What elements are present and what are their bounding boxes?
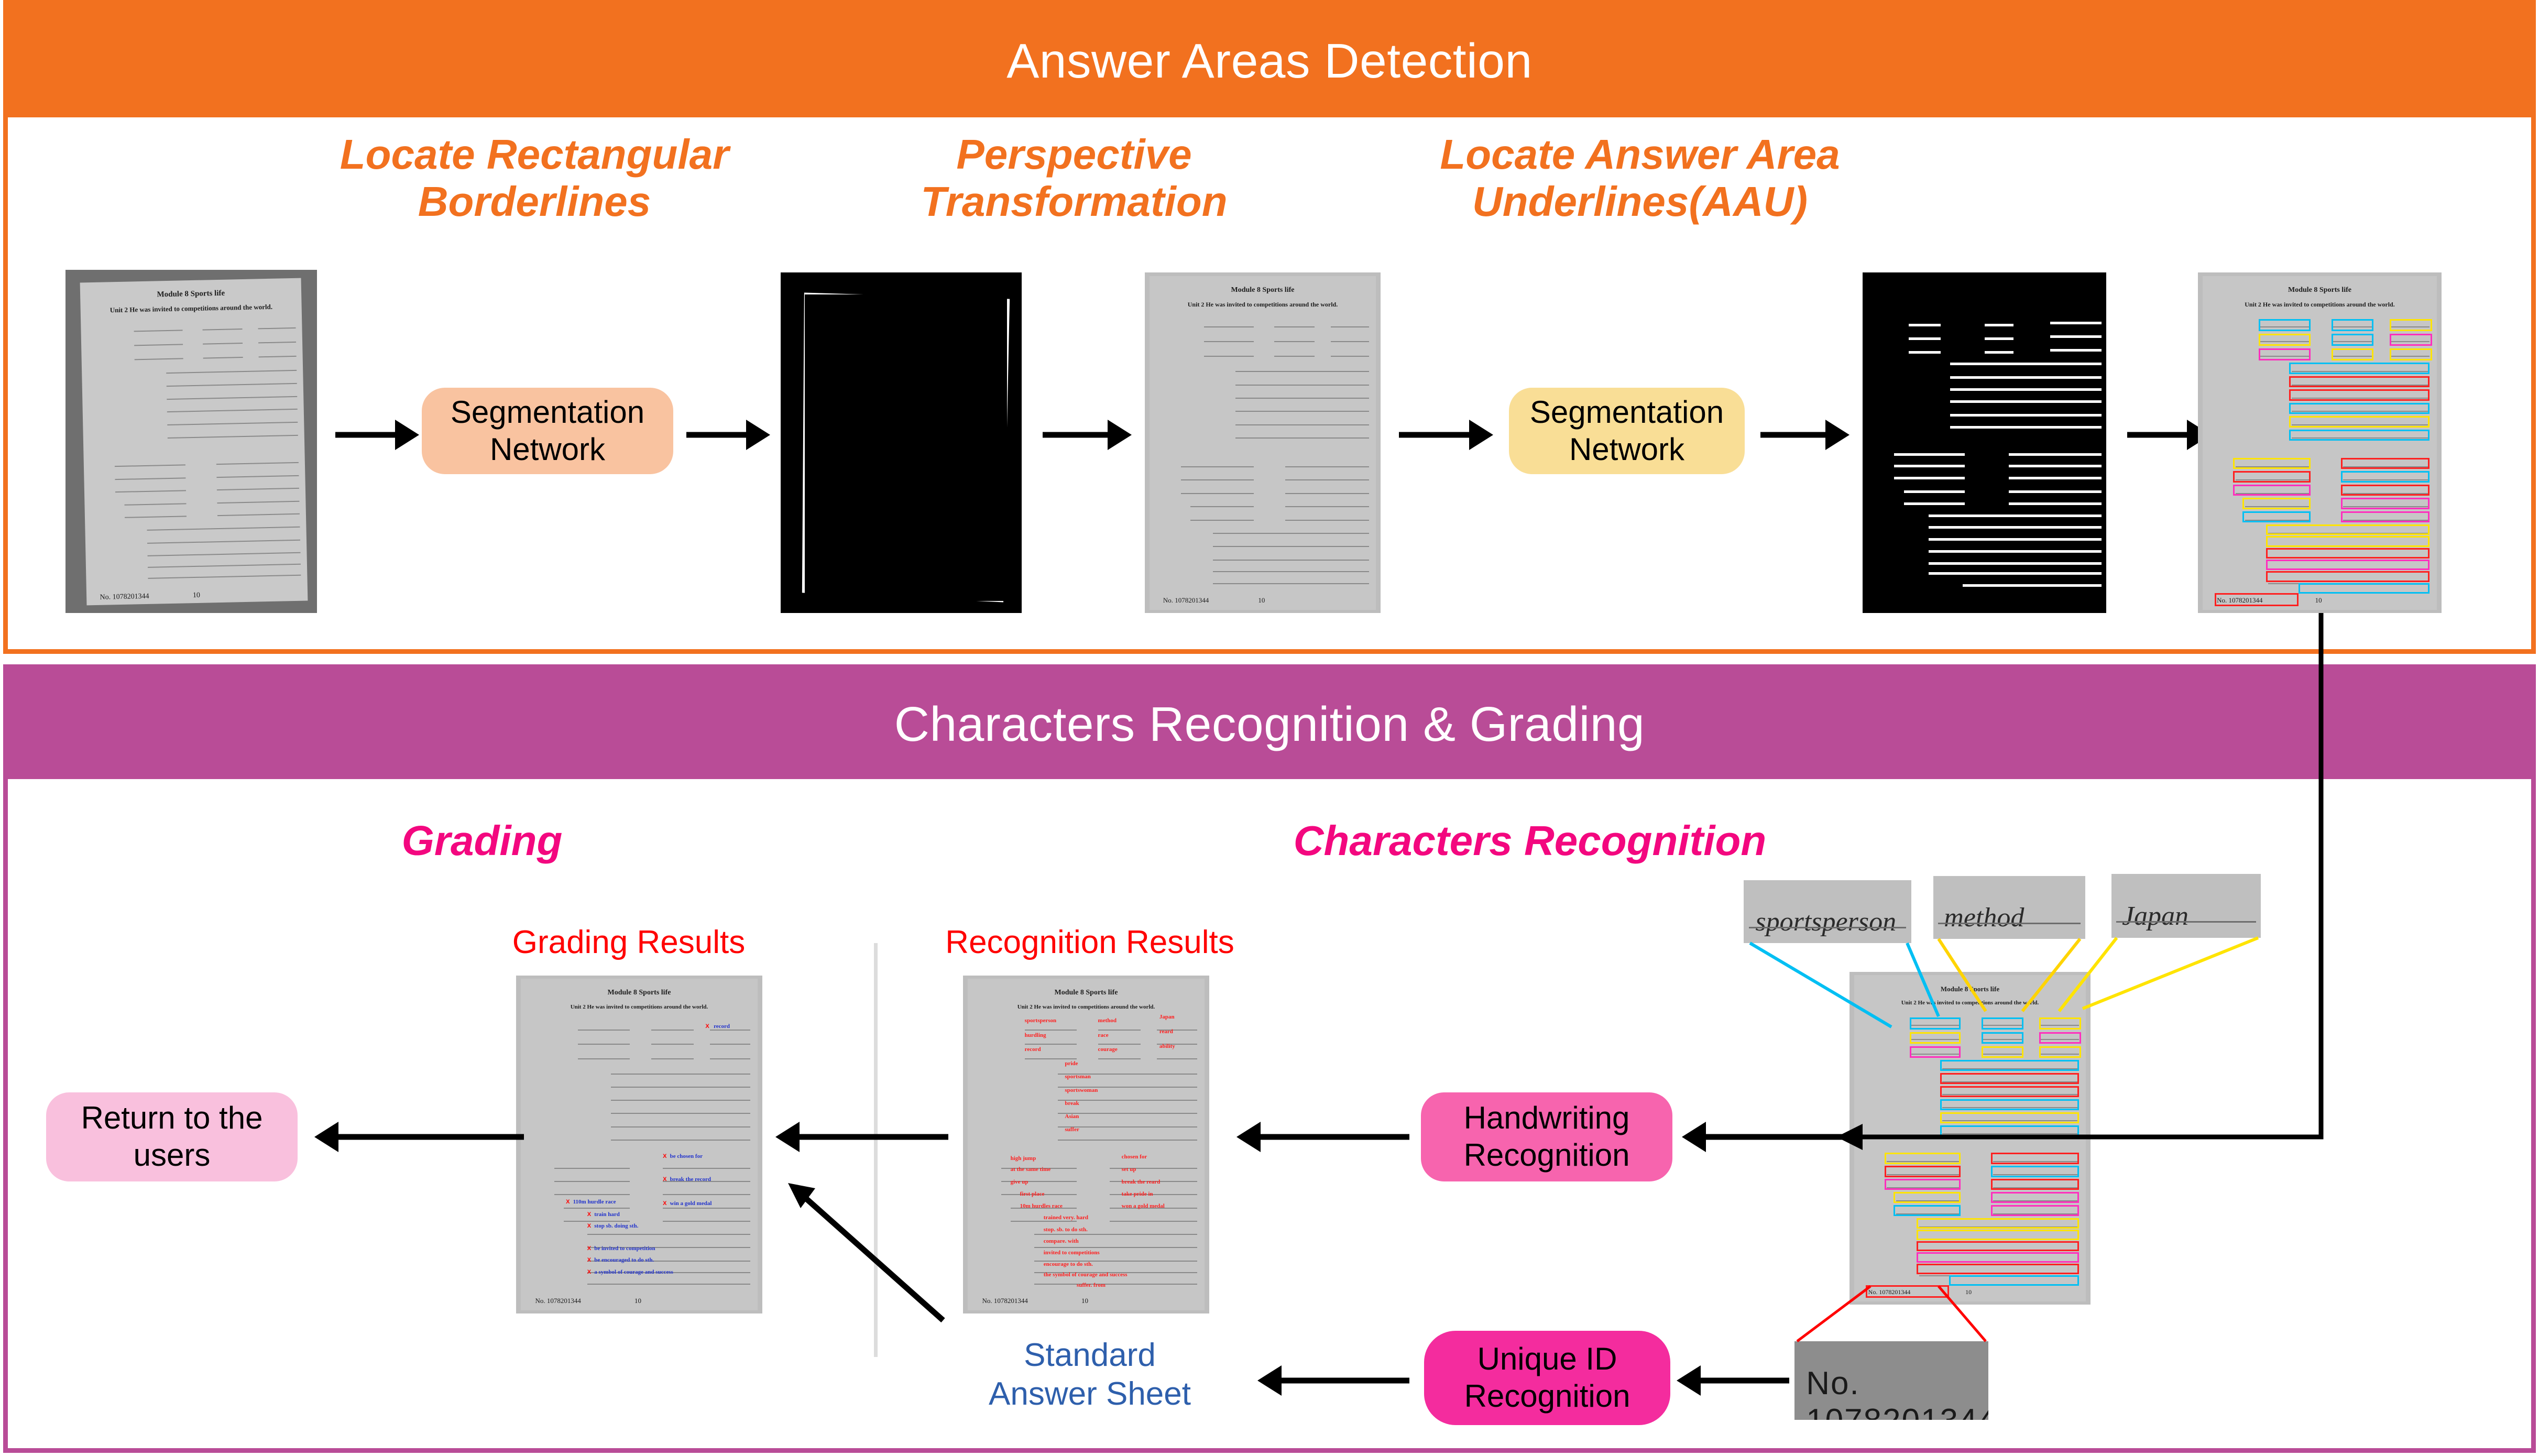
sheet-page-number: 10	[1081, 1297, 1088, 1305]
sheet-footer-id: No. 1078201344	[1868, 1288, 1911, 1296]
sheet-page-number: 10	[634, 1297, 641, 1305]
crop-japan: Japan	[2111, 874, 2261, 938]
aau-box	[2390, 348, 2432, 360]
return-to-users-line2: users	[81, 1137, 263, 1174]
characters-recognition-grading-title: Characters Recognition & Grading	[894, 700, 1645, 749]
pipeline-diagram: Answer Areas Detection Locate Rectangula…	[0, 0, 2539, 1456]
aau-box	[1991, 1205, 2079, 1216]
grading-x: X	[566, 1199, 570, 1205]
standard-answer-sheet-label: Standard Answer Sheet	[943, 1336, 1236, 1414]
recognized-text: hurdling	[1025, 1032, 1046, 1038]
aau-box	[2233, 471, 2310, 483]
step-locate-answer-area-underlines: Locate Answer Area Underlines(AAU)	[1378, 131, 1902, 225]
recognized-text: suffer	[1065, 1126, 1079, 1133]
grading-x: X	[587, 1211, 591, 1218]
aau-box	[1991, 1166, 2079, 1177]
aau-box	[1940, 1112, 2079, 1123]
sheet-title-1: Module 8 Sports life	[2203, 286, 2436, 294]
aau-box	[2266, 548, 2429, 559]
recognized-text: Asian	[1065, 1113, 1079, 1120]
sheet-page-number: 10	[1258, 596, 1265, 605]
recognized-text: ability	[1159, 1043, 1175, 1049]
characters-recognition-grading-band: Characters Recognition & Grading	[8, 669, 2531, 779]
sheet-title-2: Unit 2 He was invited to competitions ar…	[2203, 301, 2436, 309]
aau-box	[2341, 458, 2430, 469]
aau-segmentation-mask	[1863, 272, 2106, 613]
step1-line1: Locate Rectangular	[272, 131, 796, 178]
aau-box	[2332, 334, 2373, 346]
recognized-text: at the same time	[1011, 1166, 1051, 1173]
standard-answer-sheet-line2: Answer Sheet	[943, 1375, 1236, 1414]
recognized-text: sportswoman	[1065, 1087, 1098, 1093]
detected-quadrilateral	[800, 290, 1012, 606]
aau-box	[2332, 319, 2373, 331]
aau-box	[1940, 1073, 2079, 1084]
aau-box	[2266, 524, 2429, 535]
sheet-footer-id: No. 1078201344	[100, 592, 149, 601]
crop-word: Japan	[2122, 901, 2188, 932]
aau-box	[2259, 319, 2310, 331]
recognized-text: trained very. hard	[1044, 1214, 1088, 1221]
aau-box	[1885, 1166, 1961, 1177]
grading-correction: be encouraged to do sth.	[594, 1257, 654, 1263]
sheet-title-1: Module 8 Sports life	[1854, 985, 2086, 993]
aau-box	[2289, 389, 2429, 401]
sheet-title-1: Module 8 Sports life	[80, 288, 302, 301]
aau-box	[2266, 560, 2429, 570]
segnet1-line2: Network	[451, 431, 644, 468]
sheet-page: Module 8 Sports life Unit 2 He was invit…	[80, 278, 308, 605]
aau-box	[1940, 1086, 2079, 1097]
sheet-title-1: Module 8 Sports life	[1150, 286, 1376, 294]
aau-box	[2039, 1046, 2081, 1058]
aau-box	[1910, 1032, 1961, 1044]
recognized-text: sportsman	[1065, 1074, 1091, 1080]
aau-box	[1917, 1241, 2078, 1252]
aau-box	[1885, 1153, 1961, 1164]
sheet-title-1: Module 8 Sports life	[968, 989, 1204, 997]
step1-line2: Borderlines	[272, 178, 796, 225]
sheet-footer-id: No. 1078201344	[982, 1297, 1027, 1305]
aau-box	[1991, 1179, 2079, 1190]
aau-box	[2233, 458, 2310, 469]
annotated-answer-areas-sheet: Module 8 Sports life Unit 2 He was invit…	[2198, 272, 2442, 613]
answer-areas-detection-band: Answer Areas Detection	[8, 5, 2531, 117]
segmentation-network-aau[interactable]: Segmentation Network	[1509, 388, 1745, 474]
recognized-text: give up	[1011, 1179, 1028, 1185]
standard-answer-sheet-line1: Standard	[943, 1336, 1236, 1375]
aau-box	[1910, 1046, 1961, 1058]
unique-id-recognition-node[interactable]: Unique ID Recognition	[1424, 1331, 1670, 1425]
recognized-text: method	[1098, 1017, 1117, 1024]
aau-box	[2289, 403, 2429, 414]
perspective-corrected-sheet: Module 8 Sports life Unit 2 He was invit…	[1145, 272, 1381, 613]
grading-results-sheet: Module 8 Sports life Unit 2 He was invit…	[516, 976, 762, 1313]
step3-line2: Underlines(AAU)	[1378, 178, 1902, 225]
aau-box	[2259, 348, 2310, 360]
aau-box	[2289, 430, 2429, 441]
return-to-users-line1: Return to the	[81, 1100, 263, 1137]
sheet-title-2: Unit 2 He was invited to competitions ar…	[80, 302, 302, 315]
recognized-text: encourage to do sth.	[1044, 1261, 1093, 1267]
characters-recognition-heading: Characters Recognition	[1216, 817, 1844, 864]
handwriting-recognition-line1: Handwriting	[1464, 1100, 1630, 1137]
characters-recognition-grading-panel: Characters Recognition & Grading	[3, 664, 2536, 1453]
aau-box	[2341, 485, 2430, 496]
crop-sportsperson: sportsperson	[1744, 880, 1911, 943]
grading-heading: Grading	[325, 817, 639, 864]
aau-box	[1991, 1192, 2079, 1203]
aau-box	[2266, 536, 2429, 546]
step-perspective-transformation: Perspective Transformation	[859, 131, 1289, 225]
recognized-text: set up	[1122, 1166, 1136, 1173]
aau-box	[2233, 485, 2310, 496]
grading-correction: win a gold medal	[670, 1200, 712, 1207]
sheet-footer-id: No. 1078201344	[535, 1297, 581, 1305]
recognized-text: first place	[1020, 1191, 1045, 1197]
recognized-text: suffer. from	[1077, 1282, 1106, 1288]
recognized-text: pride	[1065, 1060, 1078, 1067]
recognized-text: invited to competitions	[1044, 1250, 1100, 1256]
sheet-page-number: 10	[192, 591, 200, 599]
aau-box	[1982, 1017, 2023, 1029]
aau-box	[1991, 1153, 2079, 1164]
grading-correction: break the record	[670, 1176, 711, 1183]
recognized-text: stop. sb. to do sth.	[1044, 1227, 1088, 1233]
recognized-text: compare. with	[1044, 1238, 1079, 1244]
sheet-title-2: Unit 2 He was invited to competitions ar…	[968, 1004, 1204, 1010]
answer-areas-detection-title: Answer Areas Detection	[1006, 37, 1532, 85]
aau-box	[1917, 1218, 2078, 1229]
recognized-text: 10m hurdles race	[1020, 1203, 1063, 1209]
grading-correction: record	[714, 1023, 730, 1030]
sheet-footer-id: No. 1078201344	[1163, 596, 1209, 605]
sheet-footer-id: No. 1078201344	[2217, 596, 2262, 605]
grading-x: X	[587, 1257, 591, 1263]
aau-box	[2289, 363, 2429, 374]
recognized-text: take pride in	[1122, 1191, 1153, 1197]
step-locate-rectangular-borderlines: Locate Rectangular Borderlines	[272, 131, 796, 225]
recognized-text: race	[1098, 1032, 1109, 1038]
segnet2-line2: Network	[1530, 431, 1724, 468]
recognized-text: Japan	[1159, 1014, 1175, 1020]
unique-id-recognition-line1: Unique ID	[1464, 1341, 1630, 1378]
grading-x: X	[587, 1269, 591, 1275]
aau-box	[2332, 348, 2373, 360]
aau-box	[2289, 416, 2429, 428]
aau-box	[2039, 1017, 2081, 1029]
step3-line1: Locate Answer Area	[1378, 131, 1902, 178]
aau-box	[2242, 511, 2310, 523]
aau-box	[1894, 1205, 1961, 1216]
segnet2-line1: Segmentation	[1530, 394, 1724, 431]
sheet-title-2: Unit 2 He was invited to competitions ar…	[1854, 1000, 2086, 1006]
section-divider	[874, 943, 878, 1357]
recognized-text: break	[1065, 1100, 1079, 1107]
grading-x: X	[663, 1176, 666, 1183]
aau-box	[2390, 334, 2432, 346]
aau-box	[2341, 498, 2430, 509]
aau-box	[1982, 1046, 2023, 1058]
grading-correction: be invited to competition	[594, 1245, 655, 1252]
aau-box	[1982, 1032, 2023, 1044]
aau-box	[1910, 1017, 1961, 1029]
grading-correction: train hard	[594, 1211, 620, 1218]
recognized-text: reard	[1159, 1028, 1173, 1035]
aau-box	[2259, 334, 2310, 346]
aau-box	[2341, 471, 2430, 483]
recognized-text: courage	[1098, 1046, 1118, 1053]
grading-x: X	[587, 1245, 591, 1252]
aau-box	[1940, 1125, 2079, 1136]
aau-box	[1917, 1264, 2078, 1274]
sheet-title-2: Unit 2 He was invited to competitions ar…	[1150, 301, 1376, 309]
unique-id-recognition-line2: Recognition	[1464, 1378, 1630, 1415]
recognized-text: the symbol of courage and success	[1044, 1272, 1128, 1278]
aau-box	[2289, 376, 2429, 388]
recognized-text: chosen for	[1122, 1154, 1147, 1160]
step2-line2: Transformation	[859, 178, 1289, 225]
grading-correction: be chosen for	[670, 1153, 703, 1159]
borderline-segmentation-mask	[781, 272, 1022, 613]
aau-box	[1885, 1179, 1961, 1190]
crop-unique-id: No. 1078201344	[1794, 1341, 1988, 1420]
sheet-title-2: Unit 2 He was invited to competitions ar…	[521, 1004, 757, 1010]
grading-correction: a symbol of courage and success	[594, 1269, 673, 1275]
aau-box	[2039, 1032, 2081, 1044]
grading-correction: 110m hurdle race	[573, 1199, 616, 1205]
grading-x: X	[663, 1153, 666, 1159]
grading-results-label: Grading Results	[482, 925, 775, 960]
handwriting-recognition-line2: Recognition	[1464, 1137, 1630, 1174]
handwriting-recognition-node[interactable]: Handwriting Recognition	[1421, 1092, 1672, 1181]
return-to-the-users-node[interactable]: Return to the users	[46, 1092, 298, 1181]
recognized-text: won a gold medal	[1122, 1203, 1165, 1209]
recognition-results-label: Recognition Results	[922, 925, 1257, 960]
grading-x: X	[705, 1023, 709, 1030]
recognized-text: record	[1025, 1046, 1041, 1053]
sheet-page-number: 10	[2315, 596, 2322, 605]
crop-word: method	[1944, 902, 2024, 933]
recognized-text: sportsperson	[1025, 1017, 1057, 1024]
characters-recognition-heading-text: Characters Recognition	[1216, 817, 1844, 864]
grading-heading-text: Grading	[325, 817, 639, 864]
grading-correction: stop sb. doing sth.	[594, 1223, 638, 1229]
aau-box	[1940, 1060, 2079, 1071]
step2-line1: Perspective	[859, 131, 1289, 178]
aau-box	[1894, 1192, 1961, 1203]
aau-box	[2390, 319, 2432, 331]
aau-box	[1940, 1099, 2079, 1110]
aau-box	[2299, 583, 2429, 594]
grading-x: X	[587, 1223, 591, 1229]
segnet1-line1: Segmentation	[451, 394, 644, 431]
aau-box	[2341, 511, 2430, 523]
crop-word: sportsperson	[1755, 906, 1896, 937]
input-answer-sheet-photo: Module 8 Sports life Unit 2 He was invit…	[65, 270, 317, 613]
recognized-text: break the reard	[1122, 1179, 1161, 1185]
grading-x: X	[663, 1200, 666, 1207]
segmentation-network-borderlines[interactable]: Segmentation Network	[422, 388, 673, 474]
aau-box	[1917, 1252, 2078, 1263]
sheet-page-number: 10	[1965, 1288, 1972, 1296]
sheet-title-1: Module 8 Sports life	[521, 989, 757, 997]
source-annotated-sheet: Module 8 Sports life Unit 2 He was invit…	[1849, 972, 2091, 1305]
aau-box	[1949, 1275, 2078, 1286]
aau-box	[2242, 498, 2310, 509]
crop-method: method	[1933, 876, 2085, 939]
recognized-text: high jump	[1011, 1155, 1036, 1162]
unique-id-text: No. 1078201344	[1806, 1365, 1988, 1420]
aau-box	[1917, 1230, 2078, 1240]
recognition-results-sheet: Module 8 Sports life Unit 2 He was invit…	[963, 976, 1209, 1313]
aau-box	[2266, 571, 2429, 582]
